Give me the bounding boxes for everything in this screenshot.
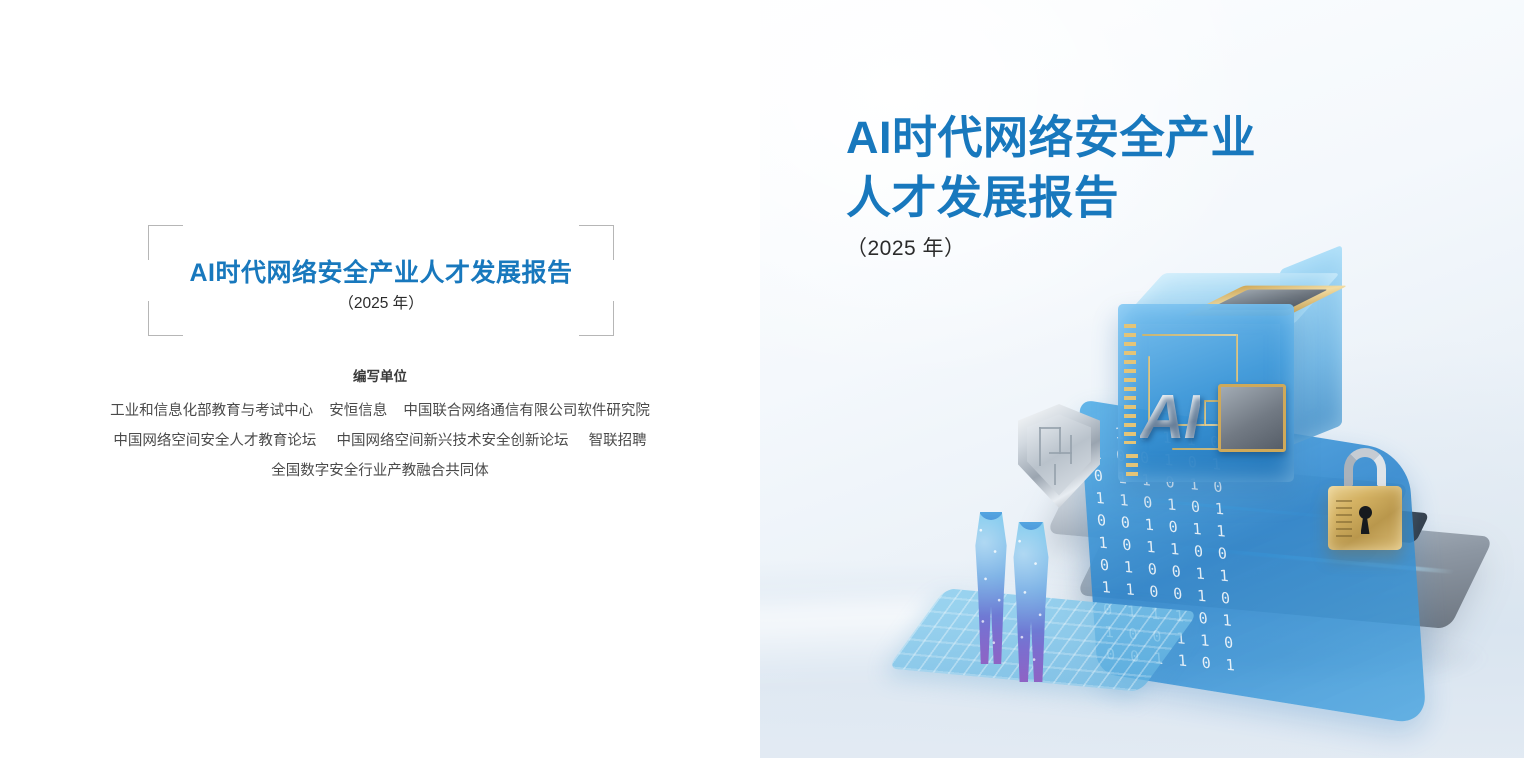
shield-circuit-trace: [1039, 427, 1041, 467]
title-bracket-frame: AI时代网络安全产业人才发展报告 （2025 年）: [148, 225, 614, 336]
shield-circuit-trace: [1049, 452, 1072, 454]
document-subtitle-year: （2025 年）: [148, 291, 614, 313]
padlock-keyhole: [1359, 506, 1372, 519]
padlock-icon: [1328, 448, 1402, 552]
circuit-trace: [1236, 334, 1238, 382]
shield-circuit-trace: [1059, 427, 1061, 454]
cover-illustration: 0 1 0 1 1 0 1 0 0 1 0 1 0 1 1 0 1 0 1 1 …: [760, 0, 1524, 758]
report-cover-spread: AI时代网络安全产业人才发展报告 （2025 年） 编写单位 工业和信息化部教育…: [0, 0, 1524, 758]
shield-circuit-trace: [1039, 427, 1060, 429]
cube-front-face: AI: [1118, 304, 1294, 482]
microchip-front: [1218, 384, 1286, 452]
ai-lettering: AI: [1140, 382, 1200, 453]
document-title-page: AI时代网络安全产业人才发展报告 （2025 年） 编写单位 工业和信息化部教育…: [0, 0, 760, 758]
padlock-body: [1328, 486, 1402, 550]
credits-heading: 编写单位: [0, 366, 760, 388]
document-title: AI时代网络安全产业人才发展报告: [148, 253, 614, 289]
report-cover-page: AI时代网络安全产业 人才发展报告 （2025 年） 0 1 0 1 1 0 1…: [760, 0, 1524, 758]
credits-block: 编写单位 工业和信息化部教育与考试中心 安恒信息 中国联合网络通信有限公司软件研…: [0, 366, 760, 486]
circuit-trace: [1142, 334, 1238, 336]
circuit-pad-column: [1126, 454, 1138, 478]
circuit-pad-column: [1124, 324, 1136, 444]
glass-cube: AI: [1112, 262, 1342, 492]
shield-circuit-trace: [1070, 435, 1072, 464]
credits-line-1: 工业和信息化部教育与考试中心 安恒信息 中国联合网络通信有限公司软件研究院: [0, 396, 760, 426]
shield-circuit-trace: [1054, 464, 1056, 485]
credits-line-2: 中国网络空间安全人才教育论坛 中国网络空间新兴技术安全创新论坛 智联招聘: [0, 426, 760, 456]
credits-line-3: 全国数字安全行业产教融合共同体: [0, 456, 760, 486]
padlock-ridges: [1336, 500, 1352, 538]
circuit-trace: [1204, 400, 1206, 426]
